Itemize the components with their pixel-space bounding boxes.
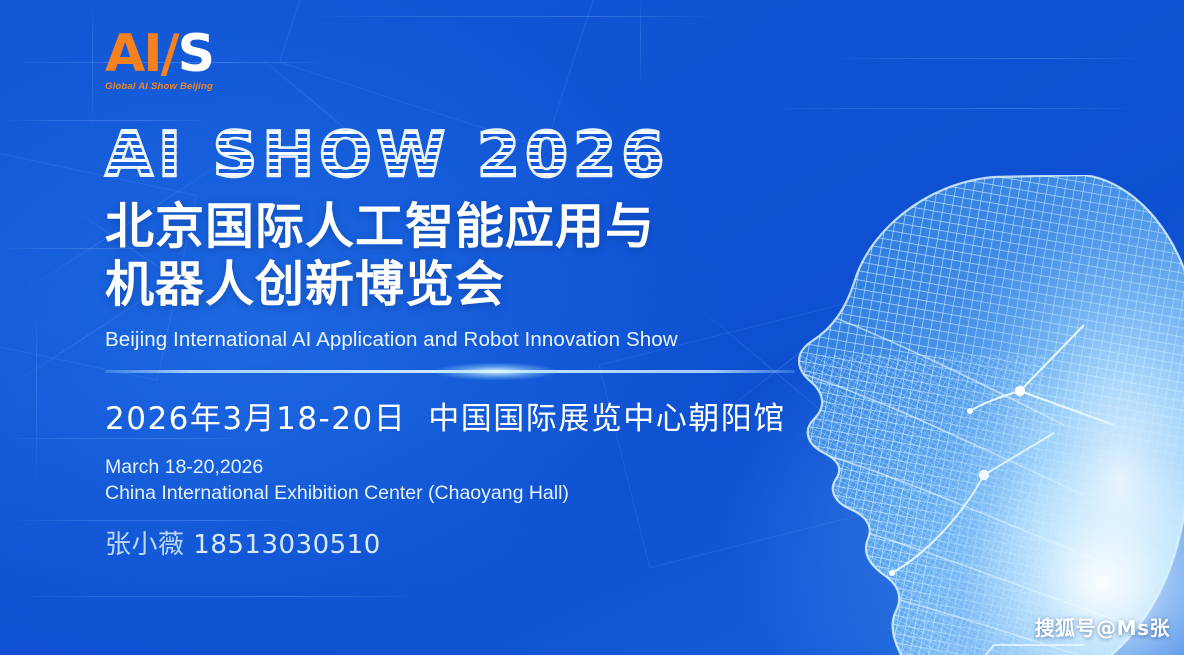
logo-ai-text: AI — [105, 24, 161, 84]
poster-canvas: AI/S Global AI Show Beijing AI SHOW 2026… — [0, 0, 1184, 655]
logo-wordmark: AI/S — [105, 28, 225, 80]
poster-content: AI/S Global AI Show Beijing AI SHOW 2026… — [0, 0, 800, 655]
wireframe-head-graphic — [784, 175, 1184, 655]
subtitle-english: Beijing International AI Application and… — [105, 328, 800, 352]
contact-info: 张小薇 18513030510 — [105, 524, 800, 561]
logo-tagline: Global AI Show Beijing — [105, 81, 225, 92]
title-chinese-line-2: 机器人创新博览会 — [105, 256, 800, 314]
date-chinese: 2026年3月18-20日 — [105, 401, 406, 437]
logo-s-text: S — [178, 24, 213, 84]
contact-name: 张小薇 — [105, 530, 185, 560]
venue-chinese: 中国国际展览中心朝阳馆 — [428, 401, 786, 437]
title-chinese: 北京国际人工智能应用与 机器人创新博览会 — [105, 198, 800, 314]
date-english: March 18-20,2026 — [105, 454, 800, 480]
title-chinese-line-1: 北京国际人工智能应用与 — [105, 198, 800, 256]
logo-slash-icon: / — [161, 24, 178, 84]
ais-logo: AI/S Global AI Show Beijing — [105, 28, 225, 100]
contact-phone: 18513030510 — [193, 530, 380, 560]
headline-ai-show-2026: AI SHOW 2026 — [105, 124, 800, 186]
sohu-watermark: 搜狐号@Ms张 — [1035, 612, 1170, 641]
venue-english: China International Exhibition Center (C… — [105, 480, 800, 506]
date-venue-english: March 18-20,2026 China International Exh… — [105, 454, 800, 506]
date-venue-chinese: 2026年3月18-20日中国国际展览中心朝阳馆 — [105, 393, 800, 438]
divider-line — [105, 370, 795, 373]
